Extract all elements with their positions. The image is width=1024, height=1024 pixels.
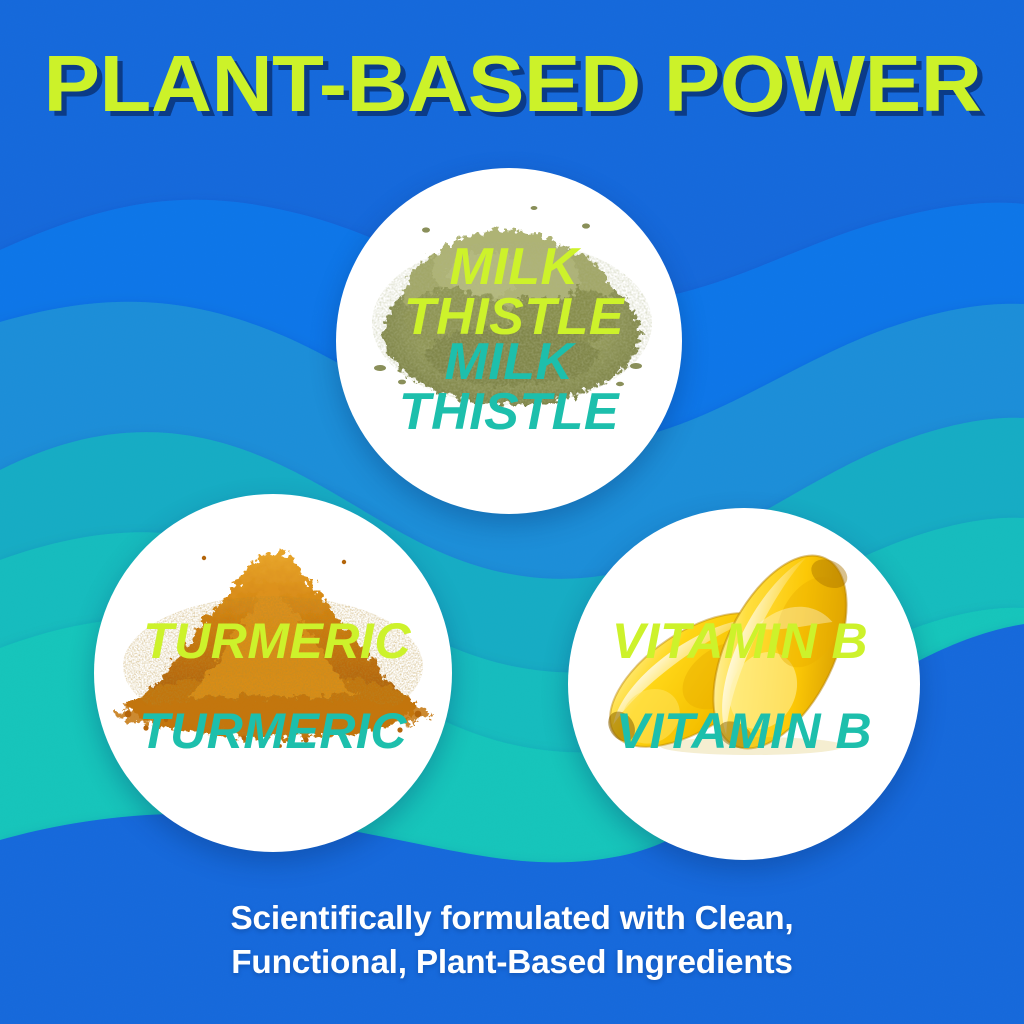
label-shadow-layer: TURMERIC xyxy=(98,617,452,666)
caption-block: Scientifically formulated with Clean, Fu… xyxy=(0,896,1024,984)
label-text: MILK THISTLE xyxy=(336,337,682,438)
page-title: PLANT-BASED POWER xyxy=(43,44,981,124)
caption-line-2: Functional, Plant-Based Ingredients xyxy=(0,940,1024,984)
promo-poster: PLANT-BASED POWER xyxy=(0,0,1024,1024)
ingredient-label-vitamin-b: VITAMIN B VITAMIN B xyxy=(568,610,920,804)
caption-line-1: Scientifically formulated with Clean, xyxy=(0,896,1024,940)
label-shadow-layer: VITAMIN B xyxy=(568,617,916,666)
ingredient-label-milk-thistle: MILK THISTLE MILK THISTLE xyxy=(336,236,682,488)
ingredient-card-turmeric[interactable]: TURMERIC TURMERIC xyxy=(94,494,452,852)
ingredient-card-vitamin-b[interactable]: VITAMIN B VITAMIN B xyxy=(568,508,920,860)
label-text: TURMERIC xyxy=(94,707,452,756)
ingredient-label-turmeric: TURMERIC TURMERIC xyxy=(94,610,452,804)
label-shadow-layer: MILK THISTLE xyxy=(341,242,682,343)
ingredient-card-milk-thistle[interactable]: MILK THISTLE MILK THISTLE xyxy=(336,168,682,514)
label-text: VITAMIN B xyxy=(568,707,920,756)
headline-container: PLANT-BASED POWER xyxy=(0,44,1024,124)
